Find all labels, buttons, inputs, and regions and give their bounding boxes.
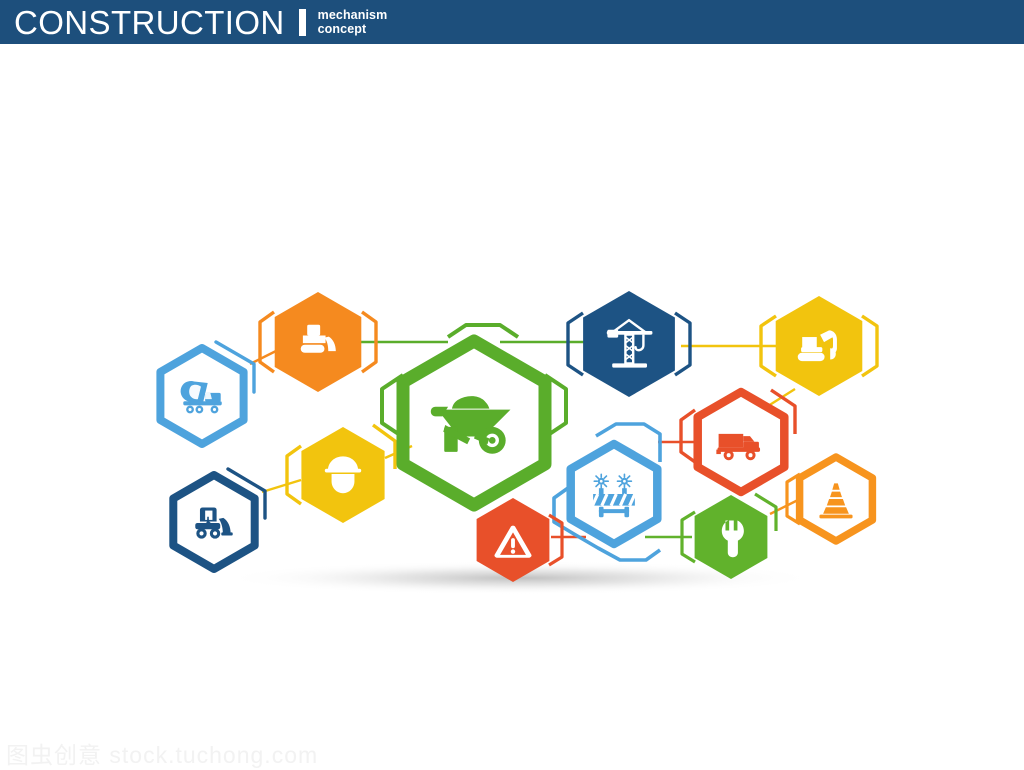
hex-fill	[776, 296, 863, 396]
hex-accent-left	[260, 312, 274, 372]
node-dump-truck[interactable]	[681, 390, 795, 492]
header-subtitle: mechanism concept	[318, 8, 388, 36]
hex-accent-right	[862, 316, 877, 376]
node-cement-mixer[interactable]	[160, 342, 254, 444]
road-barrier-icon	[593, 474, 635, 517]
diagram-stage	[0, 44, 1024, 768]
watermark: 图虫创意 stock.tuchong.com	[6, 736, 318, 770]
hex-fill	[583, 291, 675, 397]
node-wheel-loader[interactable]	[173, 469, 265, 569]
wheel-loader-icon	[195, 507, 232, 538]
node-traffic-cone[interactable]	[787, 457, 872, 541]
node-bulldozer[interactable]	[260, 292, 376, 392]
hex-outline	[173, 475, 254, 569]
dump-truck-icon	[716, 434, 760, 460]
node-tower-crane[interactable]	[568, 291, 690, 397]
hex-accent-right	[675, 313, 690, 375]
hex-accent-left	[287, 446, 301, 504]
header-divider-bar	[299, 9, 306, 36]
hex-accent-left	[568, 313, 583, 375]
hex-accent-left	[681, 410, 695, 462]
node-excavator[interactable]	[761, 296, 877, 396]
node-road-barrier[interactable]	[554, 424, 660, 560]
node-hard-hat-worker[interactable]	[287, 425, 395, 523]
page-title: CONSTRUCTION	[14, 6, 285, 39]
hex-accent-top	[448, 325, 518, 337]
header-banner: CONSTRUCTION mechanism concept	[0, 0, 1024, 44]
wheelbarrow-icon	[431, 396, 511, 454]
node-wheelbarrow[interactable]	[382, 325, 566, 505]
cement-mixer-truck-icon	[181, 381, 222, 413]
hexagon-network-diagram	[0, 44, 1024, 768]
link-wheel-loader-hard-hat	[262, 480, 301, 492]
traffic-cone-icon	[819, 483, 852, 518]
